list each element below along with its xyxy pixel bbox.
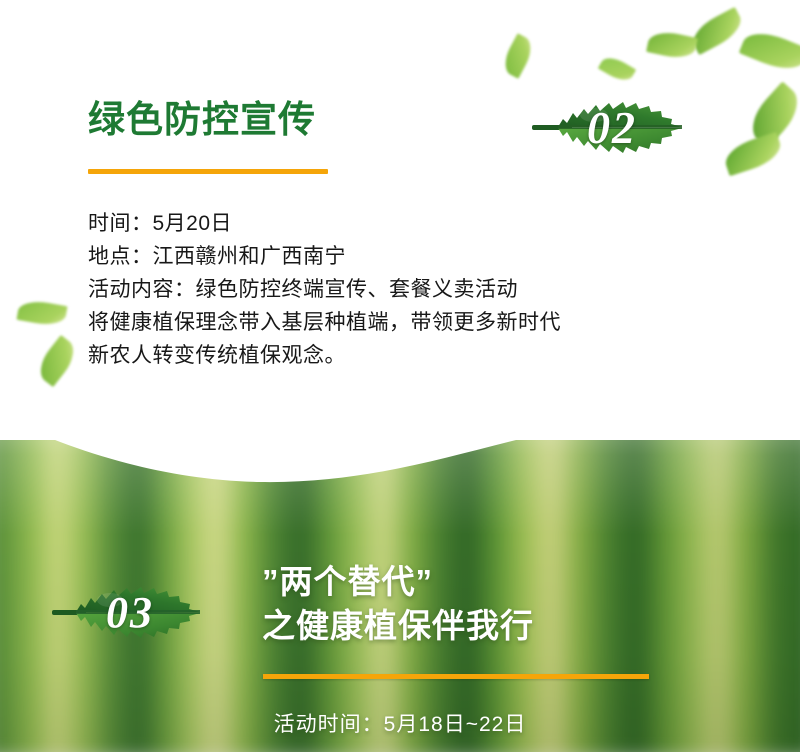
- headline-line-1: ”两个替代”: [262, 560, 534, 604]
- body-line-content: 活动内容：绿色防控终端宣传、套餐义卖活动: [88, 273, 688, 306]
- event-date-label: 活动时间：5月18日~22日: [0, 708, 800, 738]
- section-two-panel: 绿色防控宣传 时间：5月20日 地点：江西赣州和广西南宁 活动内容：绿色防控终端…: [0, 0, 800, 440]
- leaf-badge-03-number: 03: [52, 565, 208, 660]
- bottom-underline-rule: [263, 674, 649, 679]
- section-two-body: 时间：5月20日 地点：江西赣州和广西南宁 活动内容：绿色防控终端宣传、套餐义卖…: [88, 207, 688, 372]
- poster-canvas: 绿色防控宣传 时间：5月20日 地点：江西赣州和广西南宁 活动内容：绿色防控终端…: [0, 0, 800, 752]
- title-underline-rule: [88, 169, 328, 174]
- leaf-badge-02-number: 02: [532, 80, 692, 175]
- page-title: 绿色防控宣传: [88, 98, 316, 142]
- leaf-badge-02: 02: [532, 80, 692, 175]
- leaf-badge-03: 03: [52, 565, 208, 660]
- headline-line-2: 之健康植保伴我行: [262, 604, 534, 648]
- body-line-time: 时间：5月20日: [88, 207, 688, 240]
- section-three-headline: ”两个替代” 之健康植保伴我行: [262, 560, 534, 648]
- body-line-detail-2: 新农人转变传统植保观念。: [88, 339, 688, 372]
- body-line-detail-1: 将健康植保理念带入基层种植端，带领更多新时代: [88, 306, 688, 339]
- body-line-place: 地点：江西赣州和广西南宁: [88, 240, 688, 273]
